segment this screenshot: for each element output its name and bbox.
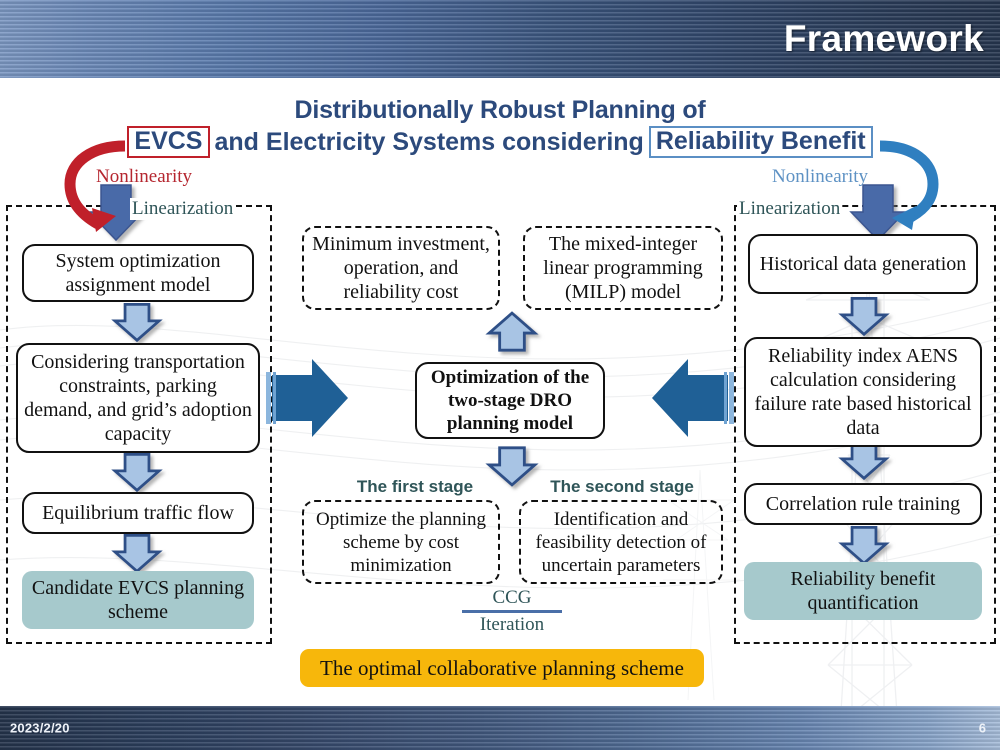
slide-title: Distributionally Robust Planning of EVCS…	[0, 96, 1000, 158]
center-box-second-stage: Identification and feasibility detection…	[519, 500, 723, 584]
left-box-equilibrium-traffic-flow: Equilibrium traffic flow	[22, 492, 254, 534]
left-box-system-optimization: System optimization assignment model	[22, 244, 254, 302]
center-up-arrow	[489, 313, 535, 350]
center-box-first-stage: Optimize the planning scheme by cost min…	[302, 500, 500, 584]
slide-canvas: Framework Distributionally Robust Planni…	[0, 0, 1000, 750]
slide-title-mid: and Electricity Systems considering	[210, 127, 649, 157]
keyword-evcs: EVCS	[127, 126, 209, 158]
label-nonlinearity-right: Nonlinearity	[772, 166, 868, 188]
page-title: Framework	[784, 18, 984, 60]
right-box-correlation-rule-training: Correlation rule training	[744, 483, 982, 525]
footer-banner: 2023/2/20 6	[0, 706, 1000, 750]
left-box-candidate-evcs-scheme: Candidate EVCS planning scheme	[22, 571, 254, 629]
center-box-milp-model: The mixed-integer linear programming (MI…	[523, 226, 723, 310]
center-box-dro-optimization: Optimization of the two-stage DRO planni…	[415, 362, 605, 439]
footer-date: 2023/2/20	[10, 721, 70, 736]
slide-title-line1: Distributionally Robust Planning of	[0, 96, 1000, 124]
center-box-minimum-cost: Minimum investment, operation, and relia…	[302, 226, 500, 310]
footer-page-number: 6	[979, 721, 986, 736]
left-box-considering-constraints: Considering transportation constraints, …	[16, 343, 260, 453]
right-box-historical-data-generation: Historical data generation	[748, 234, 978, 294]
slide-title-line2: EVCS and Electricity Systems considering…	[0, 126, 1000, 158]
big-arrow-right-to-center	[652, 359, 734, 437]
center-box-optimal-scheme: The optimal collaborative planning schem…	[300, 649, 704, 687]
right-box-reliability-index-aens: Reliability index AENS calculation consi…	[744, 337, 982, 447]
label-linearization-right: Linearization	[737, 198, 842, 220]
ccg-fraction-bar	[462, 610, 562, 613]
ccg-denominator: Iteration	[462, 614, 562, 635]
big-arrow-left-to-center	[266, 359, 348, 437]
label-nonlinearity-left: Nonlinearity	[96, 166, 192, 188]
label-linearization-left: Linearization	[130, 198, 235, 220]
label-first-stage: The first stage	[330, 477, 500, 497]
keyword-reliability-benefit: Reliability Benefit	[649, 126, 873, 158]
label-second-stage: The second stage	[527, 477, 717, 497]
header-banner: Framework	[0, 0, 1000, 78]
ccg-iteration-fraction: CCG Iteration	[462, 587, 562, 635]
right-box-reliability-benefit: Reliability benefit quantification	[744, 562, 982, 620]
ccg-numerator: CCG	[462, 587, 562, 608]
